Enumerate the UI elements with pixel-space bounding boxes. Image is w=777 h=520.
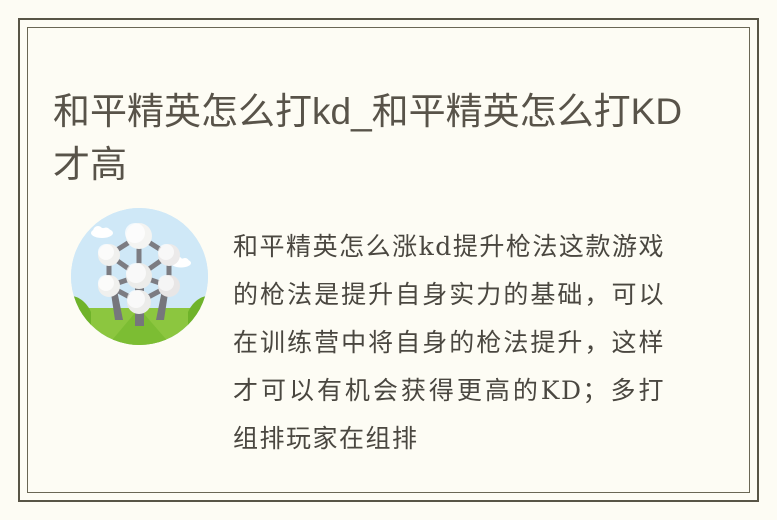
page-title: 和平精英怎么打kd_和平精英怎么打KD才高: [53, 85, 693, 191]
article-body-text: 和平精英怎么涨kd提升枪法这款游戏的枪法是提升自身实力的基础，可以在训练营中将自…: [233, 223, 665, 463]
atomium-landmark-illustration: [71, 208, 208, 345]
article-thumbnail[interactable]: [71, 208, 208, 345]
article-block: 和平精英怎么涨kd提升枪法这款游戏的枪法是提升自身实力的基础，可以在训练营中将自…: [28, 198, 749, 398]
article-page: 和平精英怎么打kd_和平精英怎么打KD才高: [0, 0, 777, 520]
page-content: 和平精英怎么打kd_和平精英怎么打KD才高: [28, 28, 749, 492]
